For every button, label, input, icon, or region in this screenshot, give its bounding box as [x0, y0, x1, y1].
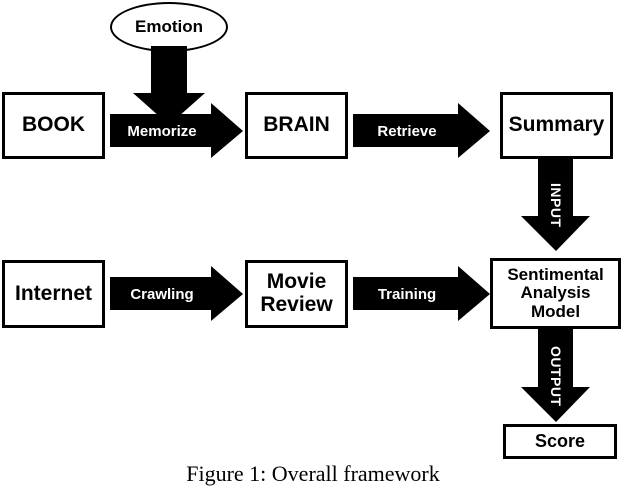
node-score-label: Score — [535, 432, 585, 451]
arrow-shape — [353, 103, 490, 158]
arrow-shape — [110, 266, 243, 321]
node-brain: BRAIN — [245, 92, 348, 159]
arrow-input: INPUT — [521, 158, 591, 252]
node-emotion: Emotion — [110, 2, 228, 52]
node-movie-review: Movie Review — [245, 260, 348, 328]
arrow-shape — [521, 158, 590, 251]
arrow-training: Training — [353, 266, 491, 322]
arrow-shape — [110, 103, 243, 158]
node-emotion-label: Emotion — [135, 17, 203, 37]
node-internet: Internet — [2, 260, 105, 328]
arrow-shape — [521, 329, 590, 422]
arrow-memorize: Memorize — [110, 103, 244, 159]
node-model-label-line3: Model — [531, 303, 580, 321]
node-brain-label: BRAIN — [263, 114, 330, 137]
arrow-shape — [353, 266, 490, 321]
node-book-label: BOOK — [22, 114, 85, 137]
node-internet-label: Internet — [15, 283, 92, 306]
framework-diagram: Emotion BOOK Memorize BRAIN Retrieve Sum… — [0, 0, 626, 490]
node-summary-label: Summary — [509, 114, 605, 137]
node-summary: Summary — [500, 92, 613, 159]
arrow-crawling: Crawling — [110, 266, 244, 322]
arrow-output: OUTPUT — [521, 329, 591, 423]
node-score: Score — [503, 424, 617, 459]
node-sentimental-analysis-model: Sentimental Analysis Model — [490, 258, 621, 329]
node-book: BOOK — [2, 92, 105, 159]
node-model-label-line1: Sentimental — [507, 266, 603, 284]
node-movie-review-label-line1: Movie — [267, 271, 327, 294]
arrow-retrieve: Retrieve — [353, 103, 491, 159]
node-movie-review-label-line2: Review — [260, 294, 332, 317]
figure-caption: Figure 1: Overall framework — [0, 461, 626, 487]
node-model-label-line2: Analysis — [521, 284, 591, 302]
